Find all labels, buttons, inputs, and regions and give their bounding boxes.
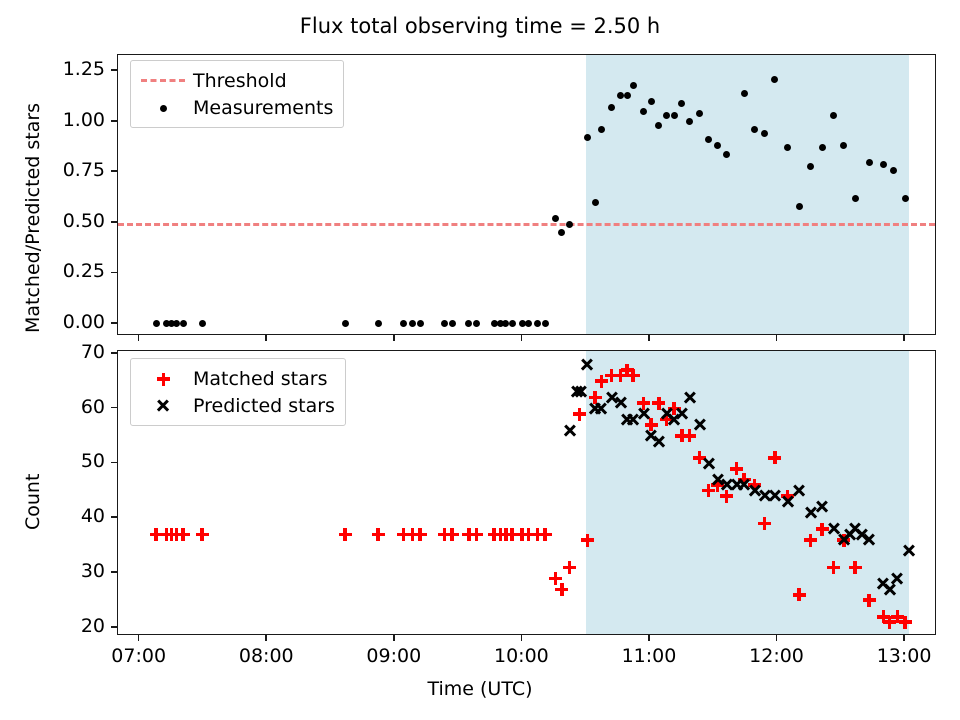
- x-axis-tick: [138, 335, 140, 341]
- data-point: [683, 391, 697, 405]
- data-point: [573, 408, 586, 421]
- y-axis-tick: [111, 170, 117, 172]
- data-point: [768, 451, 781, 464]
- data-point: [890, 571, 904, 585]
- data-point: [180, 320, 187, 327]
- data-point: [196, 528, 209, 541]
- x-axis-tick-label: 09:00: [344, 645, 444, 667]
- x-axis-label: Time (UTC): [0, 678, 960, 700]
- data-point: [671, 112, 678, 119]
- data-point: [177, 528, 190, 541]
- data-point: [592, 199, 599, 206]
- data-point: [342, 320, 349, 327]
- data-point: [702, 456, 716, 470]
- x-axis-tick: [521, 635, 523, 641]
- y-axis-tick-label: 1.25: [21, 58, 105, 80]
- y-axis-tick: [111, 221, 117, 223]
- data-point: [574, 385, 588, 399]
- y-axis-tick: [111, 272, 117, 274]
- y-axis-tick: [111, 571, 117, 573]
- data-point: [796, 203, 803, 210]
- data-point: [902, 195, 909, 202]
- legend-item-measurements: Measurements: [139, 94, 333, 121]
- y-axis-tick: [111, 462, 117, 464]
- legend-ratio-panel: Threshold Measurements: [130, 60, 344, 128]
- y-axis-tick-label: 50: [21, 450, 105, 472]
- data-point: [375, 320, 382, 327]
- data-point: [566, 221, 573, 228]
- y-axis-tick-label: 70: [21, 341, 105, 363]
- x-axis-tick: [903, 335, 905, 341]
- data-point: [852, 195, 859, 202]
- x-axis-tick-label: 13:00: [854, 645, 954, 667]
- data-point: [880, 161, 887, 168]
- y-axis-tick: [111, 626, 117, 628]
- y-axis-tick-label: 0.00: [21, 311, 105, 333]
- legend-label: Matched stars: [187, 368, 327, 390]
- data-point: [741, 90, 748, 97]
- data-point: [627, 369, 640, 382]
- data-point: [866, 159, 873, 166]
- legend-count-panel: Matched stars Predicted stars: [130, 358, 346, 426]
- data-point: [637, 407, 651, 421]
- plus-key: [139, 368, 187, 390]
- data-point: [534, 320, 541, 327]
- data-point: [849, 561, 862, 574]
- legend-label: Measurements: [187, 97, 333, 119]
- data-point: [758, 517, 771, 530]
- data-point: [558, 229, 565, 236]
- data-point: [723, 151, 730, 158]
- legend-label: Predicted stars: [187, 395, 335, 417]
- y-axis-tick-label: 0.75: [21, 159, 105, 181]
- data-point: [441, 320, 448, 327]
- y-axis-tick-label: 0.50: [21, 210, 105, 232]
- y-axis-tick: [111, 69, 117, 71]
- y-axis-tick-label: 20: [21, 615, 105, 637]
- x-axis-tick-label: 10:00: [471, 645, 571, 667]
- data-point: [793, 588, 806, 601]
- dot-key: [139, 97, 187, 119]
- data-point: [409, 320, 416, 327]
- x-axis-tick: [903, 635, 905, 641]
- data-point: [863, 594, 876, 607]
- data-point: [815, 500, 829, 514]
- data-point: [555, 583, 568, 596]
- x-axis-tick-label: 12:00: [727, 645, 827, 667]
- data-point: [902, 544, 916, 558]
- x-axis-tick: [776, 635, 778, 641]
- observing-window-shading: [586, 55, 909, 334]
- data-point: [153, 320, 160, 327]
- y-axis-tick: [111, 352, 117, 354]
- data-point: [890, 167, 897, 174]
- data-point: [417, 320, 424, 327]
- data-point: [624, 92, 631, 99]
- cross-key: [139, 395, 187, 417]
- data-point: [542, 320, 549, 327]
- y-axis-tick-label: 0.25: [21, 260, 105, 282]
- x-axis-tick-label: 07:00: [89, 645, 189, 667]
- legend-item-threshold: Threshold: [139, 67, 333, 94]
- data-point: [792, 484, 806, 498]
- y-axis-tick: [111, 516, 117, 518]
- x-axis-tick-label: 08:00: [216, 645, 316, 667]
- data-point: [563, 561, 576, 574]
- x-axis-tick: [393, 335, 395, 341]
- data-point: [414, 528, 427, 541]
- data-point: [509, 320, 516, 327]
- data-point: [693, 418, 707, 432]
- data-point: [862, 533, 876, 547]
- data-point: [630, 82, 637, 89]
- legend-item-predicted-stars: Predicted stars: [139, 392, 335, 419]
- x-axis-tick: [776, 335, 778, 341]
- data-point: [465, 320, 472, 327]
- x-axis-tick: [521, 335, 523, 341]
- data-point: [827, 561, 840, 574]
- y-axis-tick-label: 1.00: [21, 109, 105, 131]
- data-point: [563, 423, 577, 437]
- data-point: [614, 396, 628, 410]
- data-point: [899, 616, 912, 629]
- data-point: [473, 320, 480, 327]
- data-point: [539, 528, 552, 541]
- x-axis-tick: [265, 635, 267, 641]
- x-axis-tick: [138, 635, 140, 641]
- dashed-line-key: [139, 70, 187, 92]
- data-point: [580, 358, 594, 372]
- data-point: [400, 320, 407, 327]
- x-axis-tick-label: 11:00: [599, 645, 699, 667]
- data-point: [648, 98, 655, 105]
- data-point: [675, 407, 689, 421]
- data-point: [652, 434, 666, 448]
- y-axis-tick-label: 40: [21, 505, 105, 527]
- threshold-line: [118, 223, 935, 226]
- data-point: [199, 320, 206, 327]
- y-axis-tick: [111, 407, 117, 409]
- data-point: [807, 163, 814, 170]
- y-axis-tick-label: 60: [21, 396, 105, 418]
- data-point: [446, 528, 459, 541]
- x-axis-tick: [393, 635, 395, 641]
- legend-label: Threshold: [187, 70, 287, 92]
- data-point: [470, 528, 483, 541]
- y-axis-tick: [111, 120, 117, 122]
- x-axis-tick: [265, 335, 267, 341]
- legend-item-matched-stars: Matched stars: [139, 365, 335, 392]
- data-point: [581, 534, 594, 547]
- y-axis-tick: [111, 322, 117, 324]
- y-axis-tick-label: 30: [21, 560, 105, 582]
- data-point: [339, 528, 352, 541]
- data-point: [525, 320, 532, 327]
- data-point: [372, 528, 385, 541]
- x-axis-tick: [648, 635, 650, 641]
- page-title: Flux total observing time = 2.50 h: [0, 14, 960, 38]
- data-point: [552, 215, 559, 222]
- data-point: [449, 320, 456, 327]
- figure-canvas: Flux total observing time = 2.50 h Match…: [0, 0, 960, 720]
- x-axis-tick: [648, 335, 650, 341]
